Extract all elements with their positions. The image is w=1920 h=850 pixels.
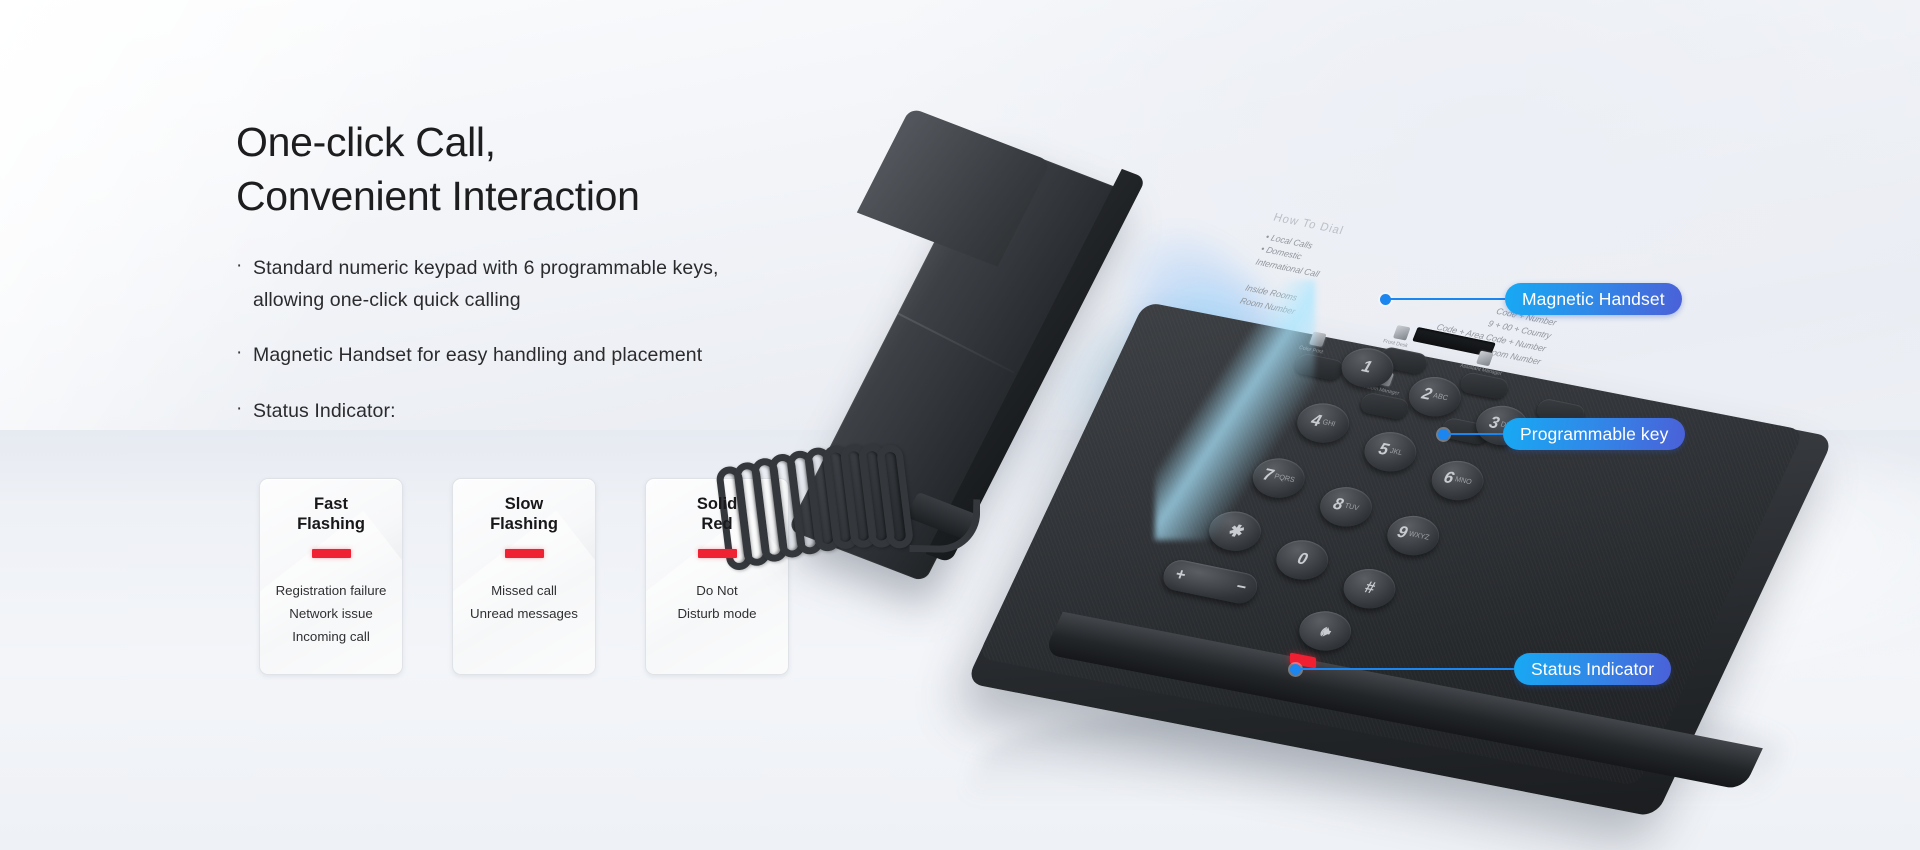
status-card-title-line-1: Solid [697, 495, 737, 513]
page-title: One-click Call, Convenient Interaction [236, 120, 896, 219]
speakerphone-key[interactable]: 🕪 [1294, 607, 1357, 655]
bullet-line-1: Magnetic Handset for easy handling and p… [253, 344, 702, 366]
callout-leader-line [1389, 298, 1505, 300]
dial-key-5[interactable]: 5 JKL [1359, 428, 1422, 476]
decorative-light-streak [1155, 280, 1315, 540]
status-card-title: Solid Red [697, 494, 737, 534]
cord-tail [909, 498, 980, 553]
status-card-description: Registration failure Network issue Incom… [270, 580, 393, 649]
status-card-title: Slow Flashing [490, 494, 558, 534]
bullet-line-1: Standard numeric keypad with 6 programma… [253, 257, 719, 279]
dial-key-digit: 9 [1395, 523, 1410, 543]
dial-key-letters: TUV [1343, 503, 1359, 513]
dial-key-digit: 0 [1295, 550, 1310, 570]
dial-key-letters: MNO [1454, 477, 1473, 487]
led-indicator-icon [505, 549, 544, 558]
status-card-title-line-1: Slow [505, 495, 544, 513]
dial-key-letters: ABC [1432, 393, 1449, 403]
bullet-marker-icon: · [236, 395, 253, 423]
dial-key-letters: GHI [1321, 420, 1336, 429]
dial-key-digit: 2 [1419, 385, 1434, 405]
status-card-desc-line: Registration failure [276, 580, 387, 603]
status-card-title-line-2: Flashing [297, 515, 365, 533]
status-card-desc-line: Incoming call [276, 626, 387, 649]
list-item: · Magnetic Handset for easy handling and… [236, 340, 896, 372]
volume-up-label: + [1172, 566, 1187, 586]
status-card-description: Do Not Disturb mode [671, 580, 762, 626]
callout-status-indicator: Status Indicator [1290, 653, 1671, 685]
status-card-desc-line: Do Not [677, 580, 756, 603]
status-card-desc-line: Network issue [276, 603, 387, 626]
bullet-text: Standard numeric keypad with 6 programma… [253, 253, 719, 316]
headline-line-1: One-click Call, [236, 119, 496, 165]
dial-key-digit: 1 [1359, 358, 1374, 378]
status-card-desc-line: Disturb mode [677, 603, 756, 626]
dial-key-0[interactable]: 0 [1271, 536, 1334, 584]
dial-key-hash[interactable]: # [1338, 565, 1401, 613]
list-item: · Status Indicator: [236, 396, 896, 428]
bullet-marker-icon: · [236, 252, 253, 280]
status-card-desc-line: Missed call [470, 580, 578, 603]
status-card-fast-flashing: Fast Flashing Registration failure Netwo… [259, 478, 403, 675]
coiled-handset-cord [712, 429, 959, 606]
bullet-line-2: allowing one-click quick calling [253, 285, 719, 317]
callout-label: Programmable key [1503, 418, 1685, 450]
dial-key-digit: 5 [1376, 440, 1391, 460]
led-indicator-icon [698, 549, 737, 558]
status-indicator-card-group: Fast Flashing Registration failure Netwo… [259, 478, 789, 675]
headline-line-2: Convenient Interaction [236, 174, 896, 219]
dial-key-9[interactable]: 9 WXYZ [1382, 511, 1445, 559]
callout-label: Magnetic Handset [1505, 283, 1682, 315]
callout-leader-line [1299, 668, 1514, 670]
bullet-text: Magnetic Handset for easy handling and p… [253, 340, 702, 372]
callout-programmable-key: Programmable key [1438, 418, 1685, 450]
status-card-title: Fast Flashing [297, 494, 365, 534]
dial-key-digit: 8 [1330, 495, 1345, 515]
callout-label: Status Indicator [1514, 653, 1671, 685]
dial-key-1[interactable]: 1 [1336, 344, 1399, 392]
volume-down-label: − [1233, 578, 1248, 598]
dial-key-letters: WXYZ [1407, 531, 1429, 542]
callout-leader-line [1447, 433, 1503, 435]
product-feature-banner: One-click Call, Convenient Interaction ·… [0, 0, 1920, 850]
led-indicator-icon [312, 549, 351, 558]
speaker-icon: 🕪 [1318, 622, 1333, 641]
dial-key-8[interactable]: 8 TUV [1315, 483, 1378, 531]
bullet-marker-icon: · [236, 339, 253, 367]
status-card-title-line-2: Red [701, 515, 732, 533]
copy-block: One-click Call, Convenient Interaction ·… [236, 120, 896, 452]
bullet-text: Status Indicator: [253, 396, 396, 428]
status-card-title-line-2: Flashing [490, 515, 558, 533]
dial-key-letters: JKL [1389, 448, 1403, 457]
bullet-line-1: Status Indicator: [253, 400, 396, 422]
status-card-slow-flashing: Slow Flashing Missed call Unread message… [452, 478, 596, 675]
dial-key-6[interactable]: 6 MNO [1426, 456, 1489, 504]
callout-magnetic-handset: Magnetic Handset [1380, 283, 1682, 315]
status-card-description: Missed call Unread messages [464, 580, 584, 626]
feature-bullet-list: · Standard numeric keypad with 6 program… [236, 253, 896, 427]
dial-key-digit: # [1362, 579, 1377, 599]
dial-key-digit: 6 [1441, 469, 1456, 489]
dial-key-2[interactable]: 2 ABC [1403, 373, 1466, 421]
status-card-desc-line: Unread messages [470, 603, 578, 626]
list-item: · Standard numeric keypad with 6 program… [236, 253, 896, 316]
status-card-title-line-1: Fast [314, 495, 348, 513]
